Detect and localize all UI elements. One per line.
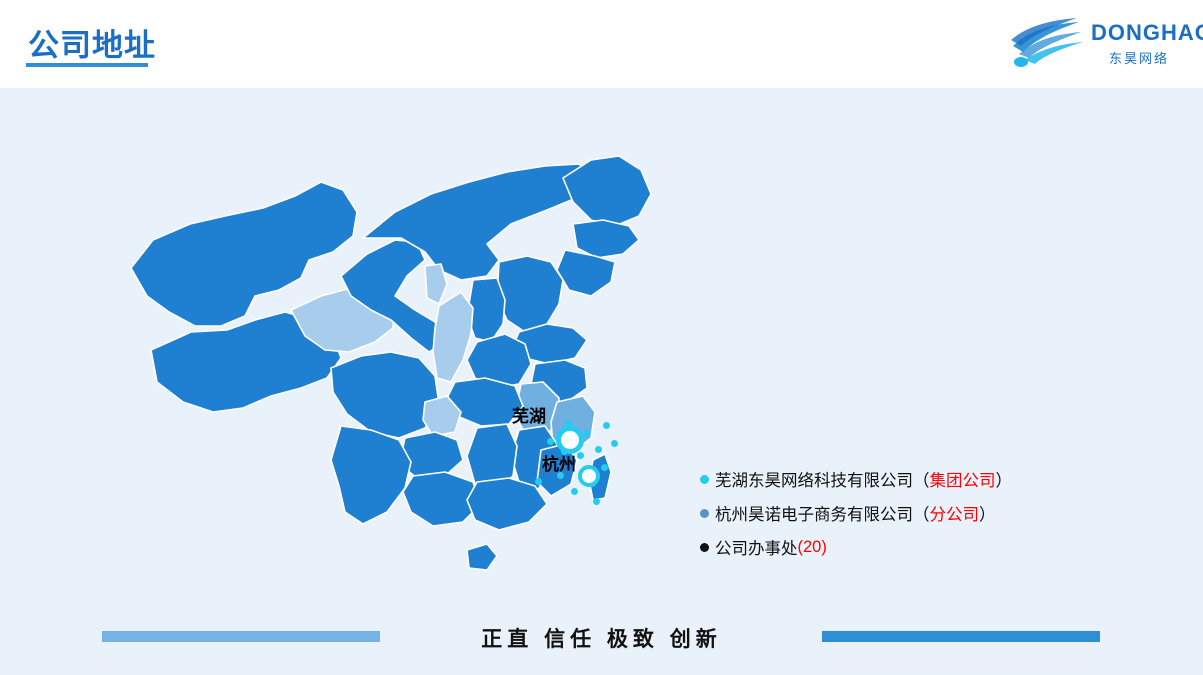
logo-text-main: DONGHAO — [1091, 20, 1203, 46]
legend-item-offices: 公司办事处 (20) — [700, 530, 1130, 564]
legend-accent: 集团公司 — [930, 467, 996, 491]
legend-accent: 分公司 — [930, 501, 980, 525]
legend-accent: (20) — [798, 538, 827, 557]
page-title: 公司地址 — [28, 20, 156, 65]
legend-text: 杭州昊诺电子商务有限公司（ — [715, 501, 930, 525]
legend-text: 公司办事处 — [715, 535, 798, 559]
province-hainan — [467, 544, 497, 570]
office-dot — [593, 498, 600, 505]
map-marker-hangzhou — [578, 465, 600, 487]
office-dot — [577, 452, 584, 459]
office-dot — [611, 440, 618, 447]
logo-text-sub: 东昊网络 — [1109, 48, 1169, 67]
province-yunnan — [331, 426, 411, 524]
province-guangdong — [467, 478, 547, 530]
legend: 芜湖东昊网络科技有限公司（ 集团公司 ） 杭州昊诺电子商务有限公司（ 分公司 ）… — [700, 462, 1130, 564]
province-hebei — [497, 256, 563, 332]
map-label-hangzhou: 杭州 — [542, 450, 576, 475]
china-map: 芜湖 杭州 — [95, 120, 715, 600]
map-label-wuhu: 芜湖 — [512, 402, 546, 427]
legend-tail: ） — [979, 501, 996, 525]
province-jilin — [573, 220, 639, 258]
legend-dot-icon — [700, 475, 709, 484]
office-dot — [571, 488, 578, 495]
office-dot — [601, 464, 608, 471]
legend-text: 芜湖东昊网络科技有限公司（ — [715, 467, 930, 491]
logo-mark-icon — [1009, 16, 1089, 68]
legend-dot-icon — [700, 509, 709, 518]
brand-logo: DONGHAO 东昊网络 — [1009, 12, 1185, 74]
legend-item-branch-company: 杭州昊诺电子商务有限公司（ 分公司 ） — [700, 496, 1130, 530]
slide-canvas: 公司地址 DONGHAO 东昊网络 — [0, 0, 1203, 675]
legend-dot-icon — [700, 543, 709, 552]
office-dot — [595, 446, 602, 453]
slide-header: 公司地址 DONGHAO 东昊网络 — [0, 0, 1203, 88]
footer-bar-right — [822, 631, 1100, 642]
office-dot — [583, 430, 590, 437]
office-dot — [547, 438, 554, 445]
province-sichuan — [331, 352, 439, 438]
office-dot — [603, 422, 610, 429]
title-underline — [26, 63, 148, 67]
china-map-svg — [95, 120, 715, 600]
legend-tail: ） — [996, 467, 1013, 491]
legend-item-group-company: 芜湖东昊网络科技有限公司（ 集团公司 ） — [700, 462, 1130, 496]
office-dot — [535, 478, 542, 485]
province-shaanxi — [433, 292, 473, 382]
